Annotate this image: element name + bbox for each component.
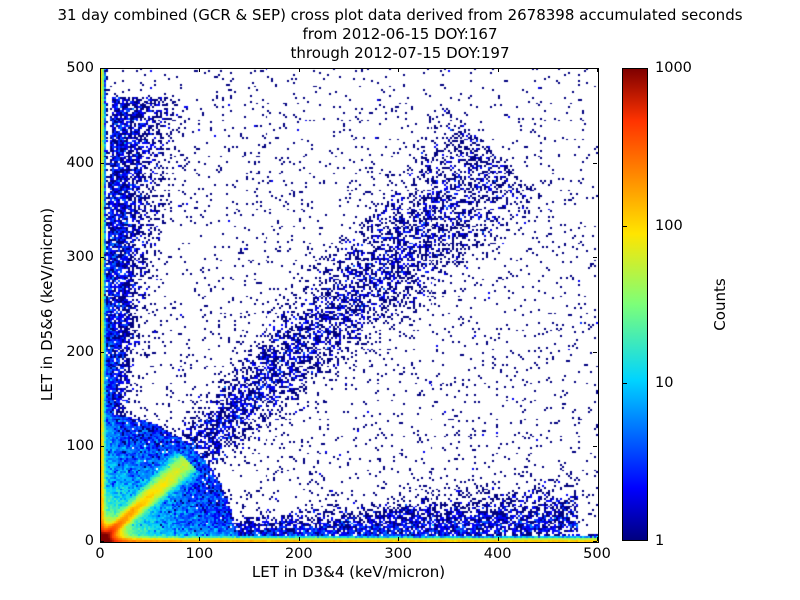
x-tick-label: 100	[186, 546, 214, 562]
plot-axes	[100, 68, 599, 543]
x-axis-label: LET in D3&4 (keV/micron)	[100, 563, 597, 581]
x-tick-mark	[597, 537, 598, 541]
x-tick-mark	[597, 68, 598, 72]
y-tick-mark	[593, 446, 597, 447]
y-tick-mark	[593, 352, 597, 353]
colorbar-tick-label: 1000	[655, 60, 692, 76]
x-tick-label: 300	[384, 546, 412, 562]
y-tick-mark	[100, 446, 104, 447]
colorbar-tick-label: 1	[655, 533, 664, 549]
title-line-2: from 2012-06-15 DOY:167	[0, 25, 800, 44]
colorbar-tick-mark	[622, 383, 627, 384]
colorbar-label: Counts	[711, 68, 729, 541]
y-tick-mark	[100, 352, 104, 353]
colorbar-gradient	[622, 68, 648, 541]
x-tick-mark	[398, 68, 399, 72]
y-tick-mark	[593, 257, 597, 258]
x-tick-mark	[498, 537, 499, 541]
x-tick-label: 200	[285, 546, 313, 562]
x-tick-label: 0	[95, 546, 104, 562]
y-axis-label: LET in D5&6 (keV/micron)	[38, 68, 56, 541]
x-tick-mark	[299, 537, 300, 541]
x-tick-label: 400	[484, 546, 512, 562]
y-tick-mark	[100, 257, 104, 258]
y-tick-mark	[593, 163, 597, 164]
x-tick-mark	[498, 68, 499, 72]
x-tick-mark	[199, 537, 200, 541]
figure-canvas: 31 day combined (GCR & SEP) cross plot d…	[0, 0, 800, 600]
y-tick-mark	[100, 163, 104, 164]
scatter-density-plot	[101, 69, 598, 542]
colorbar-tick-label: 100	[655, 218, 683, 234]
plot-title: 31 day combined (GCR & SEP) cross plot d…	[0, 6, 800, 63]
x-tick-mark	[199, 68, 200, 72]
title-line-1: 31 day combined (GCR & SEP) cross plot d…	[0, 6, 800, 25]
colorbar-tick-label: 10	[655, 375, 673, 391]
x-tick-label: 500	[583, 546, 611, 562]
y-tick-mark	[593, 68, 597, 69]
colorbar: 1101001000	[622, 68, 648, 541]
y-tick-mark	[593, 541, 597, 542]
y-tick-mark	[100, 68, 104, 69]
y-tick-mark	[100, 541, 104, 542]
colorbar-tick-mark	[622, 226, 627, 227]
x-tick-mark	[398, 537, 399, 541]
x-tick-mark	[299, 68, 300, 72]
